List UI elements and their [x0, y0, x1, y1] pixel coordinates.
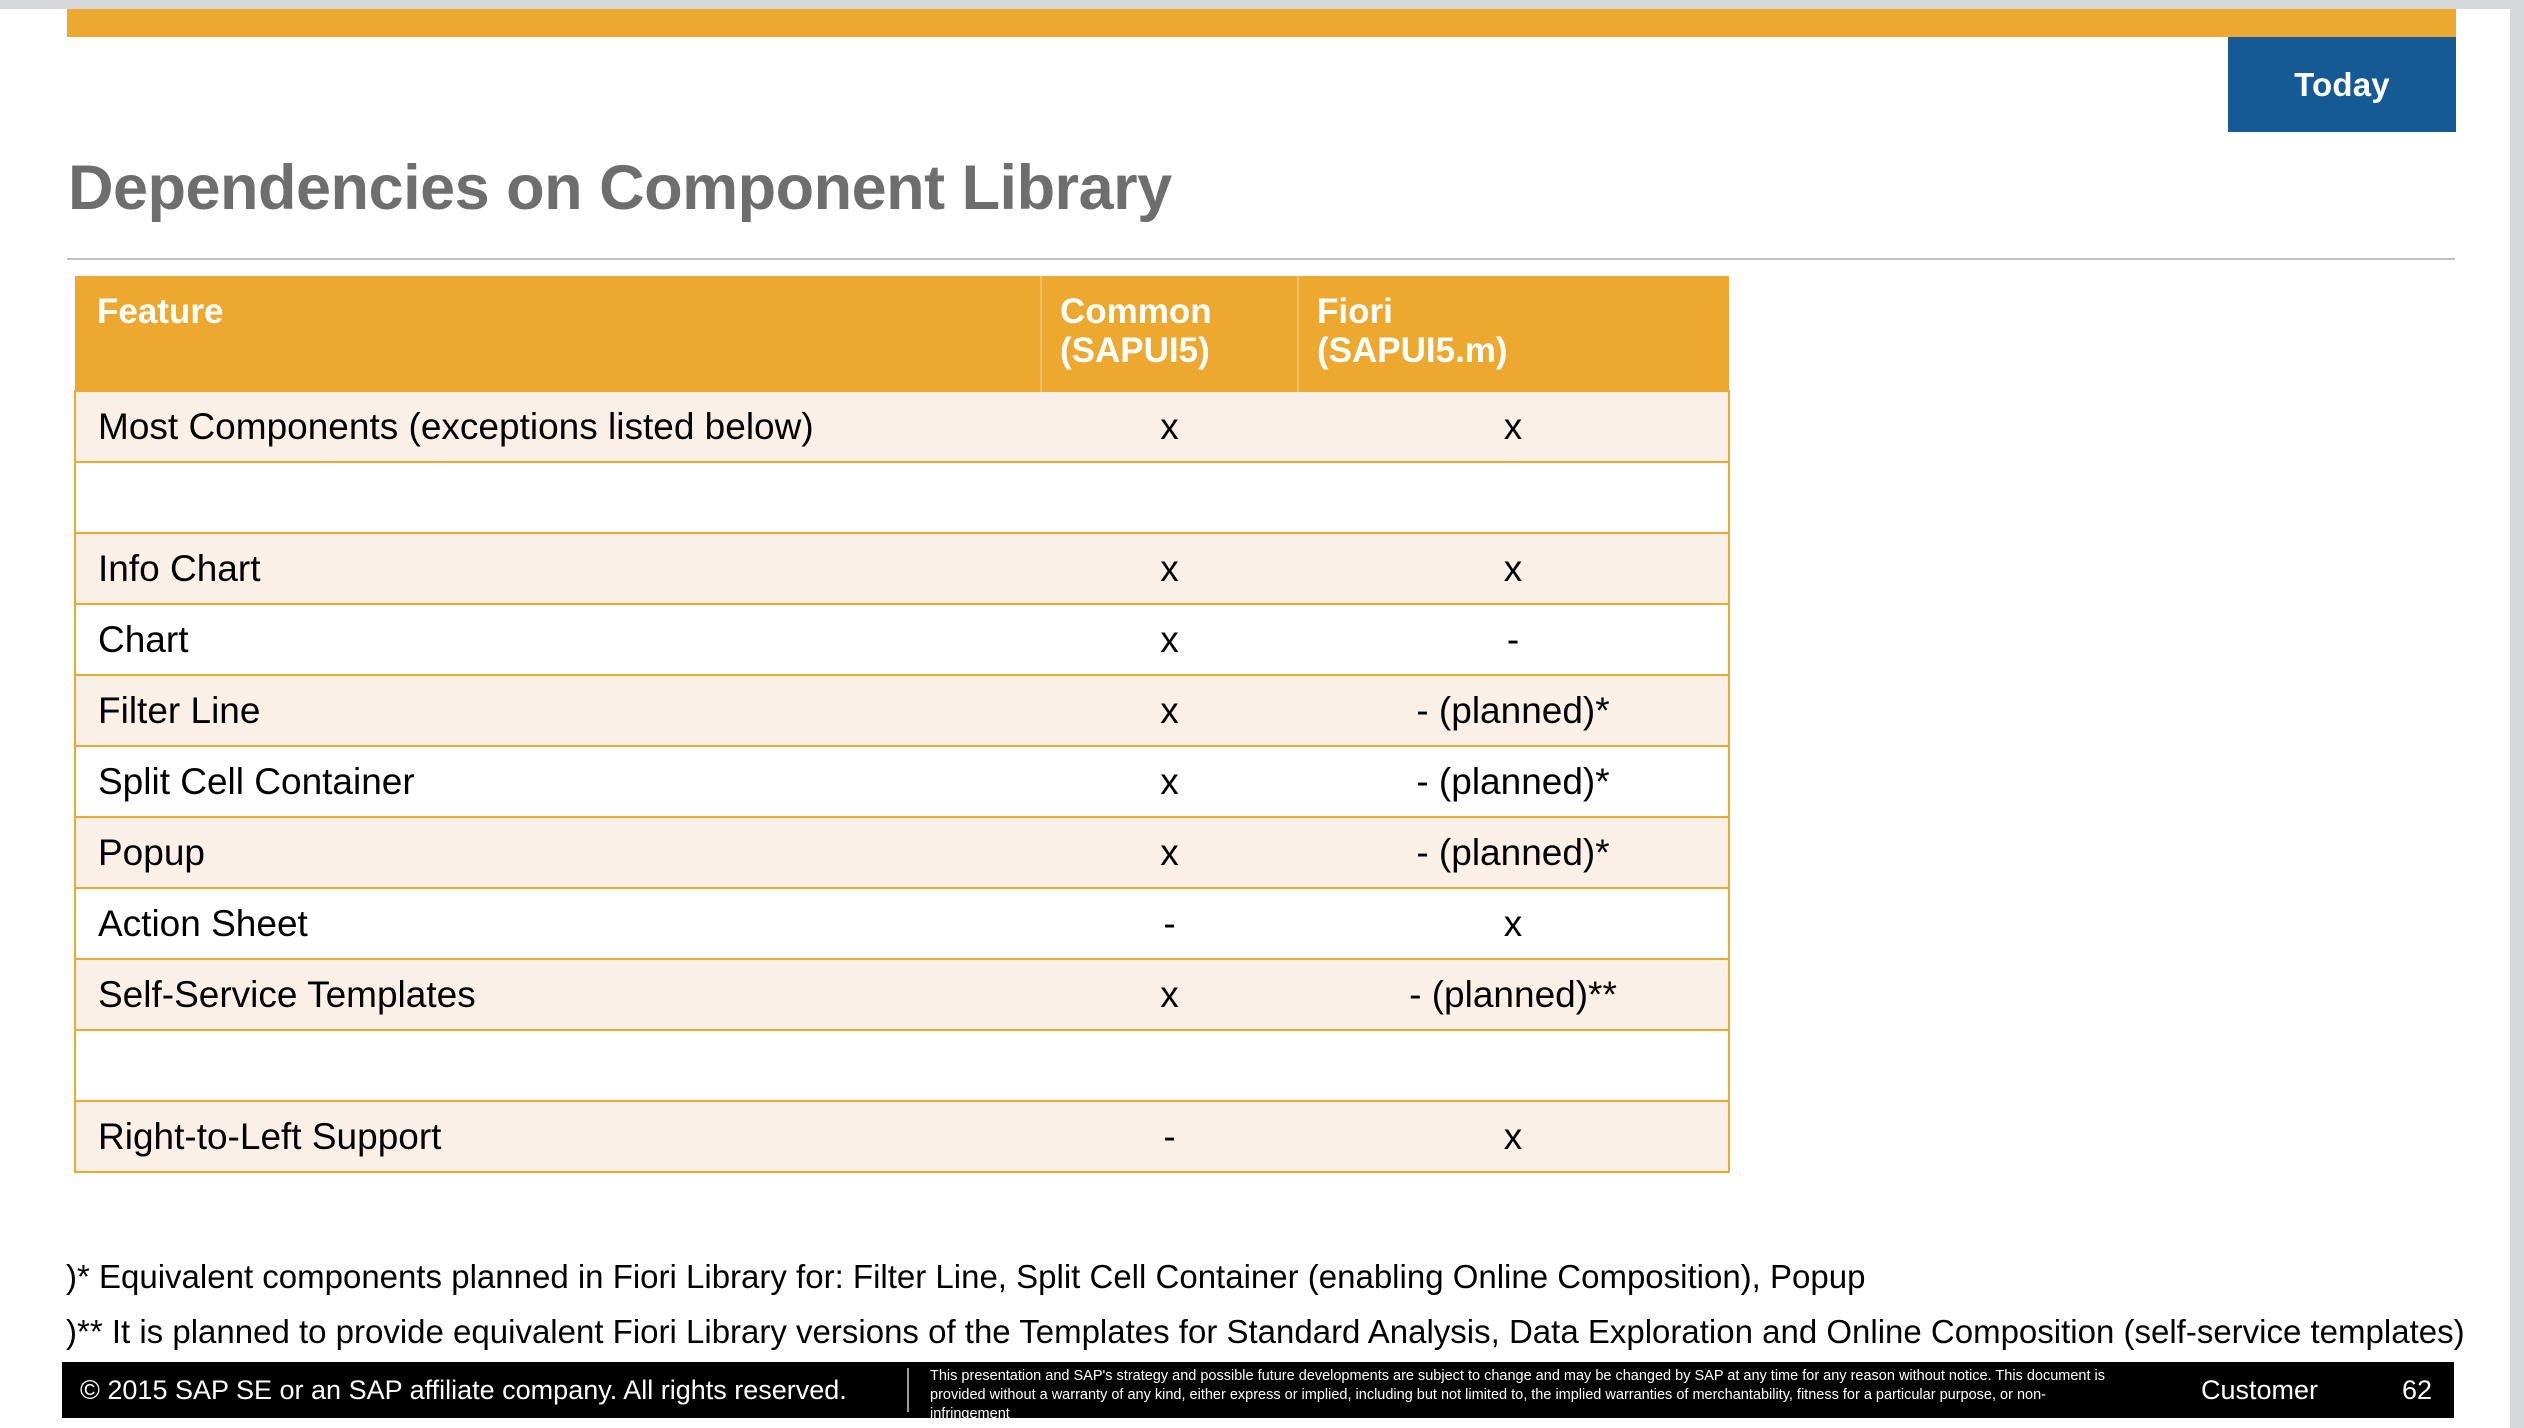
cell-common-support — [1041, 1030, 1298, 1101]
cell-fiori-support — [1298, 462, 1729, 533]
cell-feature: Action Sheet — [75, 888, 1041, 959]
table-spacer-row — [75, 1030, 1729, 1101]
cell-fiori-support: x — [1298, 888, 1729, 959]
table-row: Filter Linex- (planned)* — [75, 675, 1729, 746]
cell-feature: Chart — [75, 604, 1041, 675]
table-body: Most Components (exceptions listed below… — [75, 391, 1729, 1172]
column-header-fiori: Fiori (SAPUI5.m) — [1298, 276, 1729, 391]
cell-feature: Info Chart — [75, 533, 1041, 604]
column-header-common: Common (SAPUI5) — [1041, 276, 1298, 391]
table-spacer-row — [75, 462, 1729, 533]
column-header-fiori-line2: (SAPUI5.m) — [1317, 331, 1729, 370]
header-accent-bar — [67, 9, 2456, 37]
table-row: Most Components (exceptions listed below… — [75, 391, 1729, 462]
today-badge: Today — [2228, 37, 2456, 132]
title-divider — [67, 258, 2455, 260]
cell-common-support — [1041, 462, 1298, 533]
cell-fiori-support: - (planned)* — [1298, 746, 1729, 817]
cell-fiori-support — [1298, 1030, 1729, 1101]
table-header: Feature Common (SAPUI5) Fiori (SAPUI5.m) — [75, 276, 1729, 391]
cell-common-support: x — [1041, 604, 1298, 675]
cell-fiori-support: - — [1298, 604, 1729, 675]
slide-canvas: Today Dependencies on Component Library … — [0, 0, 2524, 1428]
cell-feature: Split Cell Container — [75, 746, 1041, 817]
cell-feature: Right-to-Left Support — [75, 1101, 1041, 1172]
footer-copyright: © 2015 SAP SE or an SAP affiliate compan… — [80, 1375, 847, 1406]
cell-common-support: - — [1041, 888, 1298, 959]
page-title: Dependencies on Component Library — [68, 152, 2068, 224]
column-header-common-line2: (SAPUI5) — [1060, 331, 1297, 370]
table-row: Self-Service Templatesx- (planned)** — [75, 959, 1729, 1030]
table-row: Split Cell Containerx- (planned)* — [75, 746, 1729, 817]
footer-divider — [907, 1368, 909, 1412]
table-row: Right-to-Left Support-x — [75, 1101, 1729, 1172]
slide-footer: © 2015 SAP SE or an SAP affiliate compan… — [62, 1362, 2454, 1418]
table-header-row: Feature Common (SAPUI5) Fiori (SAPUI5.m) — [75, 276, 1729, 391]
table-row: Action Sheet-x — [75, 888, 1729, 959]
cell-feature — [75, 462, 1041, 533]
footnote-single-asterisk: )* Equivalent components planned in Fior… — [66, 1258, 1865, 1296]
column-header-fiori-line1: Fiori — [1317, 292, 1729, 331]
cell-fiori-support: - (planned)* — [1298, 675, 1729, 746]
cell-fiori-support: - (planned)** — [1298, 959, 1729, 1030]
cell-common-support: - — [1041, 1101, 1298, 1172]
footer-disclaimer: This presentation and SAP's strategy and… — [930, 1367, 2110, 1424]
cell-feature: Filter Line — [75, 675, 1041, 746]
cell-common-support: x — [1041, 533, 1298, 604]
cell-feature: Self-Service Templates — [75, 959, 1041, 1030]
cell-common-support: x — [1041, 391, 1298, 462]
column-header-common-line1: Common — [1060, 292, 1297, 331]
cell-common-support: x — [1041, 675, 1298, 746]
cell-feature: Most Components (exceptions listed below… — [75, 391, 1041, 462]
table-row: Info Chartxx — [75, 533, 1729, 604]
dependencies-table: Feature Common (SAPUI5) Fiori (SAPUI5.m)… — [74, 276, 1730, 1173]
table-row: Popupx- (planned)* — [75, 817, 1729, 888]
today-badge-label: Today — [2294, 66, 2390, 104]
cell-common-support: x — [1041, 746, 1298, 817]
cell-fiori-support: x — [1298, 391, 1729, 462]
cell-fiori-support: x — [1298, 1101, 1729, 1172]
cell-feature — [75, 1030, 1041, 1101]
table-row: Chartx- — [75, 604, 1729, 675]
column-header-feature: Feature — [75, 276, 1041, 391]
viewer-top-strip — [0, 0, 2524, 9]
cell-common-support: x — [1041, 817, 1298, 888]
footnote-double-asterisk: )** It is planned to provide equivalent … — [66, 1313, 2465, 1351]
cell-fiori-support: x — [1298, 533, 1729, 604]
cell-common-support: x — [1041, 959, 1298, 1030]
footer-page-number: 62 — [2352, 1375, 2432, 1406]
footer-audience-label: Customer — [2088, 1375, 2318, 1406]
viewer-right-strip — [2510, 0, 2524, 1428]
cell-feature: Popup — [75, 817, 1041, 888]
cell-fiori-support: - (planned)* — [1298, 817, 1729, 888]
